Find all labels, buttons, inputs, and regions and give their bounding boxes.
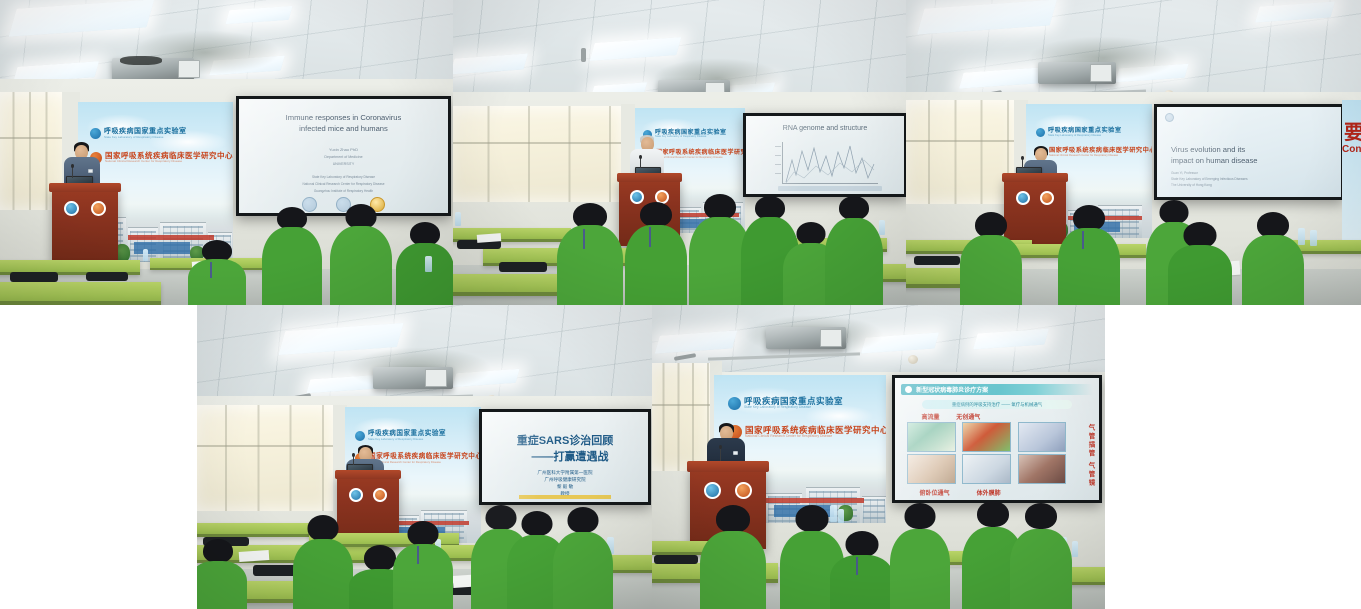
audience-member bbox=[553, 507, 613, 609]
podium bbox=[52, 188, 118, 261]
banner-lab-name-en: State Key Laboratory of Respiratory Dise… bbox=[368, 438, 446, 441]
slide-sub-3: 黎 毅 敏 bbox=[482, 484, 648, 491]
banner-lab-name-en: State Key Laboratory of Respiratory Dise… bbox=[744, 406, 843, 410]
audience-member bbox=[1242, 212, 1304, 305]
photo-5-bottom-right: 呼吸疾病国家重点实验室 State Key Laboratory of Resp… bbox=[652, 305, 1105, 609]
audience-member bbox=[1168, 222, 1232, 305]
audience-member bbox=[393, 521, 453, 609]
podium-emblem-right-icon bbox=[735, 482, 752, 499]
slide-pill: 重症病例的呼吸支持治疗 —— 氧疗与机械通气 bbox=[922, 400, 1073, 409]
side-banner-cn: 要 bbox=[1344, 116, 1361, 145]
cell-label-bottom-2: 体外膜肺 bbox=[977, 488, 1001, 497]
audience-member bbox=[825, 196, 883, 305]
photo-2-top-center: 呼吸疾病国家重点实验室 State Key Laboratory of Resp… bbox=[453, 0, 906, 305]
cell-label-bottom-1: 俯卧位通气 bbox=[919, 488, 949, 497]
photo-collage: 呼吸疾病国家重点实验室 State Key Laboratory of Resp… bbox=[0, 0, 1361, 609]
banner-center-name-en: National Clinical Research Center for Re… bbox=[1049, 155, 1152, 158]
slide-corner-logo-icon bbox=[1165, 113, 1174, 122]
podium-emblem-left-icon bbox=[349, 488, 363, 502]
audience-member bbox=[262, 207, 322, 305]
banner-center-name-en: National Clinical Research Center for Re… bbox=[656, 157, 745, 160]
lab-logo-icon bbox=[90, 128, 101, 139]
slide-side-label: 气管插管 气管镜 bbox=[1085, 424, 1095, 487]
desk bbox=[0, 282, 161, 305]
slide-affiliation-2: The University of Hong Kong bbox=[1171, 183, 1311, 188]
slide-image-grid bbox=[907, 422, 1066, 484]
audience-member bbox=[188, 240, 246, 305]
banner-center-name-en: National Clinical Research Center for Re… bbox=[745, 435, 886, 439]
lab-logo-icon bbox=[1036, 128, 1045, 137]
slide-image-cell bbox=[907, 422, 956, 452]
banner-lab-name-en: State Key Laboratory of Respiratory Dise… bbox=[1048, 135, 1122, 138]
podium-emblem-right-icon bbox=[1040, 191, 1054, 205]
audience-member bbox=[625, 202, 687, 305]
projection-screen: 新型冠状病毒肺炎诊疗方案 重症病例的呼吸支持治疗 —— 氧疗与机械通气 高流量 … bbox=[892, 375, 1102, 503]
slide-sub-1: 广州医科大学附属第一医院 bbox=[482, 470, 648, 477]
audience-member bbox=[197, 539, 247, 609]
podium-emblem-right-icon bbox=[373, 488, 387, 502]
slide-title-line1: Immune responses in Coronavirus bbox=[239, 113, 448, 123]
slide-image-cell bbox=[962, 422, 1011, 452]
audience-member bbox=[830, 531, 894, 609]
slide-image-cell bbox=[907, 454, 956, 484]
side-banner-en: Con bbox=[1342, 144, 1361, 155]
slide-title-line2: infected mice and humans bbox=[239, 124, 448, 134]
banner-lab-name-en: State Key Laboratory of Respiratory Dise… bbox=[104, 136, 187, 139]
slide-affiliation-1: State Key Laboratory of Emerging Infecti… bbox=[1171, 177, 1323, 182]
podium-emblem-left-icon bbox=[64, 201, 79, 216]
desk bbox=[453, 274, 559, 296]
lab-logo-icon bbox=[728, 397, 741, 410]
slide-affiliation-2: UNIVERSITY bbox=[239, 162, 448, 167]
projection-screen: Virus evolution and its impact on human … bbox=[1154, 104, 1344, 200]
slide-title-line1: 重症SARS诊治回顾 bbox=[482, 434, 648, 449]
slide-image-cell bbox=[962, 454, 1011, 484]
chart-caption bbox=[778, 186, 882, 191]
audience-member bbox=[293, 515, 353, 609]
slide-affiliation-1: Department of Medicine bbox=[239, 155, 448, 160]
slide-footer-1: State Key Laboratory of Respiratory Dise… bbox=[239, 175, 448, 180]
cell-label-top-1: 高流量 bbox=[922, 412, 940, 421]
slide-image-cell bbox=[1018, 422, 1067, 452]
slide-author: Guan Yi, Professor bbox=[1171, 171, 1301, 176]
slide-footer-2: National Clinical Research Center for Re… bbox=[239, 182, 448, 187]
slide-author: Yuxin Zhao PhD bbox=[239, 147, 448, 153]
cell-label-top-2: 无创通气 bbox=[956, 412, 980, 421]
audience-member bbox=[960, 212, 1022, 305]
projection-screen: 重症SARS诊治回顾 ——打赢遭遇战 广州医科大学附属第一医院 广州呼吸健康研究… bbox=[479, 409, 651, 505]
side-banner: 要 Con bbox=[1342, 100, 1361, 240]
audience-member bbox=[890, 503, 950, 609]
slide-header-text: 新型冠状病毒肺炎诊疗方案 bbox=[916, 385, 988, 394]
projection-screen: Immune responses in Coronavirus infected… bbox=[236, 96, 451, 216]
photo-1-top-left: 呼吸疾病国家重点实验室 State Key Laboratory of Resp… bbox=[0, 0, 453, 305]
audience-member bbox=[557, 203, 623, 305]
projection-screen: RNA genome and structure bbox=[743, 113, 906, 197]
lab-logo-icon bbox=[355, 431, 365, 441]
slide-sub-2: 广州呼吸健康研究院 bbox=[482, 477, 648, 484]
photo-3-top-right: 呼吸疾病国家重点实验室 State Key Laboratory of Resp… bbox=[906, 0, 1361, 305]
audience-member bbox=[700, 505, 766, 609]
audience-member bbox=[330, 204, 392, 305]
banner-lab-name-en: State Key Laboratory of Respiratory Dise… bbox=[655, 136, 727, 139]
banner-center-name-en: National Clinical Research Center for Re… bbox=[105, 160, 233, 163]
podium-emblem-left-icon bbox=[1016, 191, 1030, 205]
slide-header-bar: 新型冠状病毒肺炎诊疗方案 bbox=[901, 384, 1093, 395]
slide-title-line1: Virus evolution and its bbox=[1171, 145, 1301, 155]
photo-4-bottom-left: 呼吸疾病国家重点实验室 State Key Laboratory of Resp… bbox=[197, 305, 652, 609]
slide-title-line2: impact on human disease bbox=[1171, 156, 1321, 166]
slide-footer-3: Guangzhou Institute of Respiratory Healt… bbox=[239, 189, 448, 194]
podium-emblem-left-icon bbox=[704, 482, 721, 499]
chart-plot bbox=[782, 142, 878, 184]
podium-emblem-right-icon bbox=[91, 201, 106, 216]
audience-member bbox=[1010, 503, 1072, 609]
slide-title-line2: ——打赢遭遇战 bbox=[492, 450, 648, 465]
banner-center-name-en: National Clinical Research Center for Re… bbox=[369, 461, 481, 464]
slide-header-badge-icon bbox=[905, 386, 912, 393]
audience-member bbox=[1058, 205, 1120, 305]
slide-image-cell bbox=[1018, 454, 1067, 484]
slide-title: RNA genome and structure bbox=[746, 124, 904, 133]
